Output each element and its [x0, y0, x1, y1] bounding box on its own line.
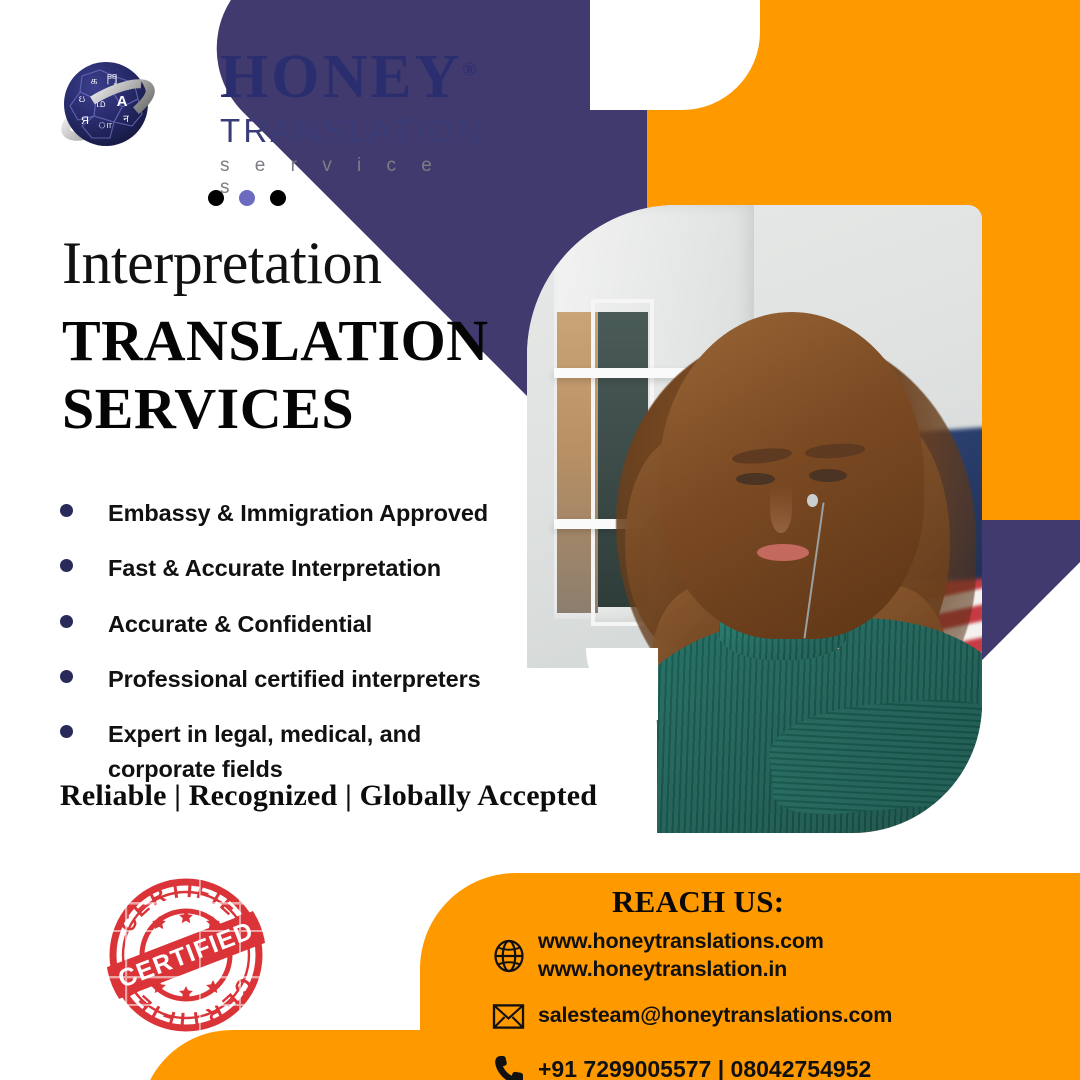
globe-languages-icon: க 門 फ़ ઇ ம A Я ா न [52, 52, 164, 164]
person-eye [736, 473, 774, 486]
dot-1 [208, 190, 224, 206]
bullet-icon [60, 615, 73, 628]
headline-bold-1: TRANSLATION [62, 307, 532, 375]
list-item: Expert in legal, medical, and corporate … [52, 717, 532, 788]
phone-numbers[interactable]: +91 7299005577 | 08042754952 [538, 1055, 871, 1080]
dot-2 [239, 190, 255, 206]
person-lips [757, 544, 808, 561]
globe-icon [492, 935, 538, 977]
website-line-2[interactable]: www.honeytranslation.in [538, 956, 824, 984]
list-item: Embassy & Immigration Approved [52, 496, 532, 531]
logo-name: HONEY® [220, 46, 470, 108]
list-item: Professional certified interpreters [52, 662, 532, 697]
website-links[interactable]: www.honeytranslations.com www.honeytrans… [538, 928, 824, 983]
registered-trademark-icon: ® [462, 59, 476, 80]
phone-icon [492, 1049, 538, 1080]
svg-text:ா: ா [98, 119, 112, 131]
tagline: Reliable | Recognized | Globally Accepte… [60, 779, 660, 813]
contact-row-website[interactable]: www.honeytranslations.com www.honeytrans… [492, 928, 1062, 983]
dot-3 [270, 190, 286, 206]
bullet-icon [60, 559, 73, 572]
bullet-icon [60, 504, 73, 517]
list-item-label: Expert in legal, medical, and corporate … [108, 717, 448, 788]
person-hair-front [659, 312, 924, 639]
list-item-label: Fast & Accurate Interpretation [108, 551, 441, 586]
person-nose [770, 486, 791, 533]
page-title: Interpretation TRANSLATION SERVICES [62, 233, 532, 444]
svg-text:A: A [117, 93, 128, 110]
list-item: Fast & Accurate Interpretation [52, 551, 532, 586]
svg-text:க: க [90, 75, 97, 87]
contact-list: www.honeytranslations.com www.honeytrans… [492, 928, 1062, 1080]
brand-logo[interactable]: க 門 फ़ ઇ ம A Я ா न HONEY® TRANSLATION s e… [52, 46, 472, 176]
list-item: Accurate & Confidential [52, 607, 532, 642]
decorative-dots [208, 190, 286, 206]
svg-text:ઇ: ઇ [79, 94, 86, 105]
logo-subtitle: TRANSLATION [220, 110, 470, 151]
certified-stamp-icon: CERTIFIED CERTIFIED CERTIFIED [103, 872, 269, 1038]
earphone-icon [807, 494, 818, 508]
list-item-label: Embassy & Immigration Approved [108, 496, 488, 531]
contact-row-phone[interactable]: +91 7299005577 | 08042754952 [492, 1049, 1062, 1080]
contact-row-email[interactable]: salesteam@honeytranslations.com [492, 995, 1062, 1037]
logo-wordmark: HONEY® TRANSLATION s e r v i c e s [220, 46, 470, 199]
headline-bold-2: SERVICES [62, 375, 532, 443]
bullet-icon [60, 670, 73, 683]
list-item-label: Accurate & Confidential [108, 607, 372, 642]
feature-list: Embassy & Immigration Approved Fast & Ac… [52, 496, 532, 808]
svg-text:न: न [123, 114, 129, 125]
person-eye [809, 469, 847, 482]
email-address[interactable]: salesteam@honeytranslations.com [538, 1002, 892, 1030]
bullet-icon [60, 725, 73, 738]
list-item-label: Professional certified interpreters [108, 662, 481, 697]
headline-script: Interpretation [62, 233, 532, 293]
contact-heading: REACH US: [612, 884, 784, 920]
svg-text:Я: Я [81, 115, 89, 127]
photo-notch-mask [527, 700, 645, 836]
poster-canvas: க 門 फ़ ઇ ம A Я ா न HONEY® TRANSLATION s e… [0, 0, 1080, 1080]
envelope-icon [492, 995, 538, 1037]
website-line-1[interactable]: www.honeytranslations.com [538, 928, 824, 956]
